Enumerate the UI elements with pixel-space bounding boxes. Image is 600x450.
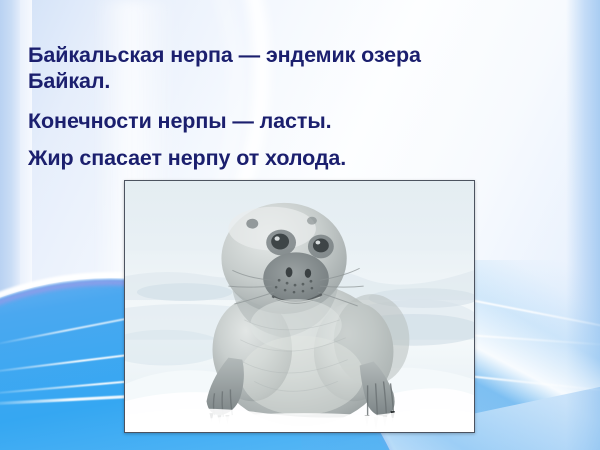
slide: Байкальская нерпа — эндемик озера Байкал…	[0, 0, 600, 450]
bullet-line-3: Жир спасает нерпу от холода.	[0, 145, 600, 171]
seal-photo-illustration	[125, 181, 474, 432]
seal-photo	[124, 180, 475, 433]
slide-text-block: Байкальская нерпа — эндемик озера Байкал…	[0, 0, 600, 182]
bullet-line-2: Конечности нерпы — ласты.	[0, 108, 600, 134]
bullet-line-1: Байкальская нерпа — эндемик озера Байкал…	[0, 42, 600, 94]
